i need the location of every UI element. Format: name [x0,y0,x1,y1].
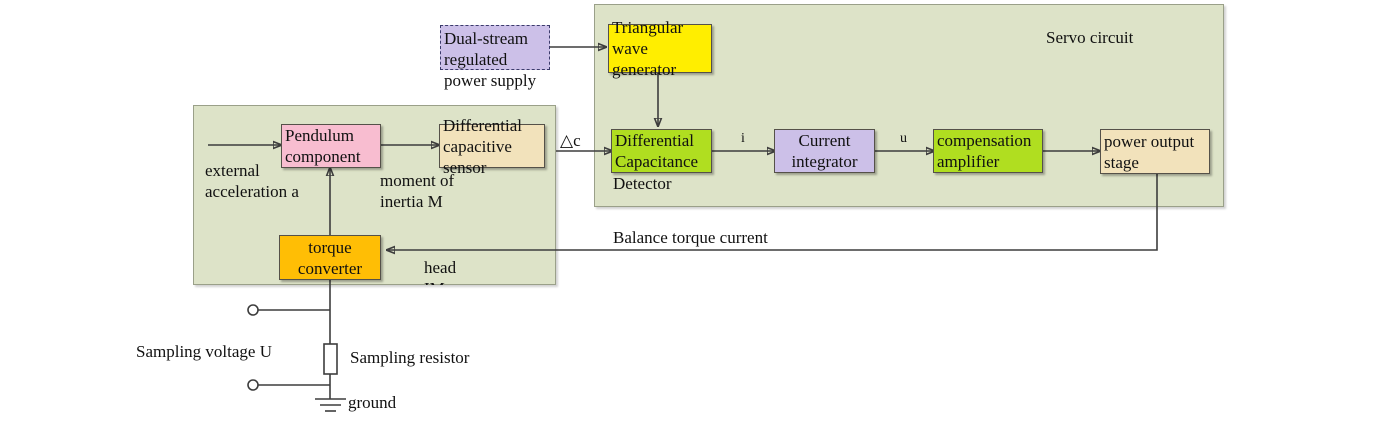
label-sampling-resistor: Sampling resistor [350,347,469,368]
block-power-output-stage[interactable]: power output stage [1100,129,1210,174]
block-differential-capacitive-sensor[interactable]: Differential capacitive sensor [439,124,545,168]
label-voltage-u: u [900,128,907,149]
terminal-upper [248,305,258,315]
label-detector: Detector [613,173,672,194]
block-torque-converter[interactable]: torque converter [279,235,381,280]
label-external-acceleration: external acceleration a [205,160,299,202]
block-differential-capacitance-detector[interactable]: Differential Capacitance [611,129,712,173]
label-current-i: i [741,128,745,149]
block-compensation-amplifier[interactable]: compensation amplifier [933,129,1043,173]
label-sampling-voltage: Sampling voltage U [136,341,272,362]
label-balance-torque-current: Balance torque current [613,227,768,248]
label-head-clipped-overflow: IM [424,278,484,285]
block-current-integrator[interactable]: Current integrator [774,129,875,173]
label-moment-of-inertia: moment of inertia M [380,170,454,212]
sampling-resistor-symbol [324,344,337,374]
label-delta-c: △c [560,130,581,151]
block-triangular-wave-generator[interactable]: Triangular wave generator [608,24,712,73]
label-head: head [424,257,456,278]
label-ground: ground [348,392,396,413]
terminal-lower [248,380,258,390]
servo-circuit-label: Servo circuit [1046,27,1133,48]
block-dual-stream-power-supply[interactable]: Dual-stream regulated power supply [440,25,550,70]
diagram-canvas: Servo circuit [0,0,1374,432]
